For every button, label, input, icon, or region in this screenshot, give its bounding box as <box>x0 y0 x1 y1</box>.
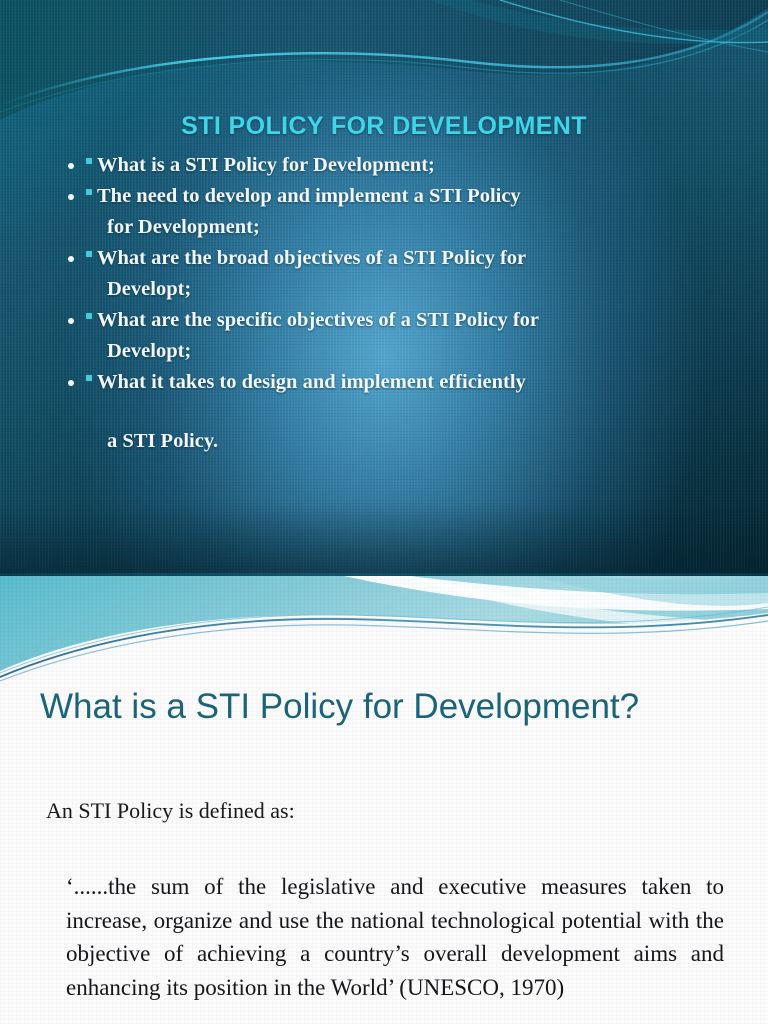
list-item-line-1: What is a STI Policy for Development; <box>97 150 706 181</box>
slide-2-quote-text: ‘......the sum of the legislative and ex… <box>66 870 724 1004</box>
list-item-line-1: The need to develop and implement a STI … <box>97 181 706 212</box>
square-bullet-icon <box>86 251 92 257</box>
square-bullet-icon <box>86 158 92 164</box>
slide-2-wave-banner <box>0 573 768 685</box>
slide-deck-page: STI POLICY FOR DEVELOPMENT What is a STI… <box>0 0 768 1024</box>
list-item-line-2: for Development; <box>97 212 706 243</box>
list-item: The need to develop and implement a STI … <box>86 181 706 243</box>
list-item: What are the specific objectives of a ST… <box>86 305 706 367</box>
square-bullet-icon <box>86 189 92 195</box>
slide-2-lead-text: An STI Policy is defined as: <box>46 798 726 824</box>
slide-1-title: STI POLICY FOR DEVELOPMENT <box>0 112 768 141</box>
square-bullet-icon <box>86 375 92 381</box>
slide-2-top-divider <box>0 573 768 576</box>
slide-1: STI POLICY FOR DEVELOPMENT What is a STI… <box>0 0 768 573</box>
square-bullet-icon <box>86 313 92 319</box>
slide-1-trailing-line: a STI Policy. <box>86 426 706 457</box>
slide-1-content: STI POLICY FOR DEVELOPMENT What is a STI… <box>0 0 768 573</box>
list-item-line-1: What are the broad objectives of a STI P… <box>97 243 706 274</box>
slide-1-trailing-period: . <box>213 430 218 452</box>
list-item-line-1: What are the specific objectives of a ST… <box>97 305 706 336</box>
slide-2: What is a STI Policy for Development? An… <box>0 573 768 1024</box>
slide-2-title: What is a STI Policy for Development? <box>40 686 740 728</box>
slide-1-bullet-list: What is a STI Policy for Development; Th… <box>86 150 706 457</box>
list-item-line-2: Developt; <box>97 274 706 305</box>
slide-1-trailing-text: a STI Policy <box>107 430 213 452</box>
list-item: What it takes to design and implement ef… <box>86 367 706 398</box>
list-item-line-1: What it takes to design and implement ef… <box>97 367 706 398</box>
list-item-line-2: Developt; <box>97 336 706 367</box>
list-item: What are the broad objectives of a STI P… <box>86 243 706 305</box>
list-item: What is a STI Policy for Development; <box>86 150 706 181</box>
